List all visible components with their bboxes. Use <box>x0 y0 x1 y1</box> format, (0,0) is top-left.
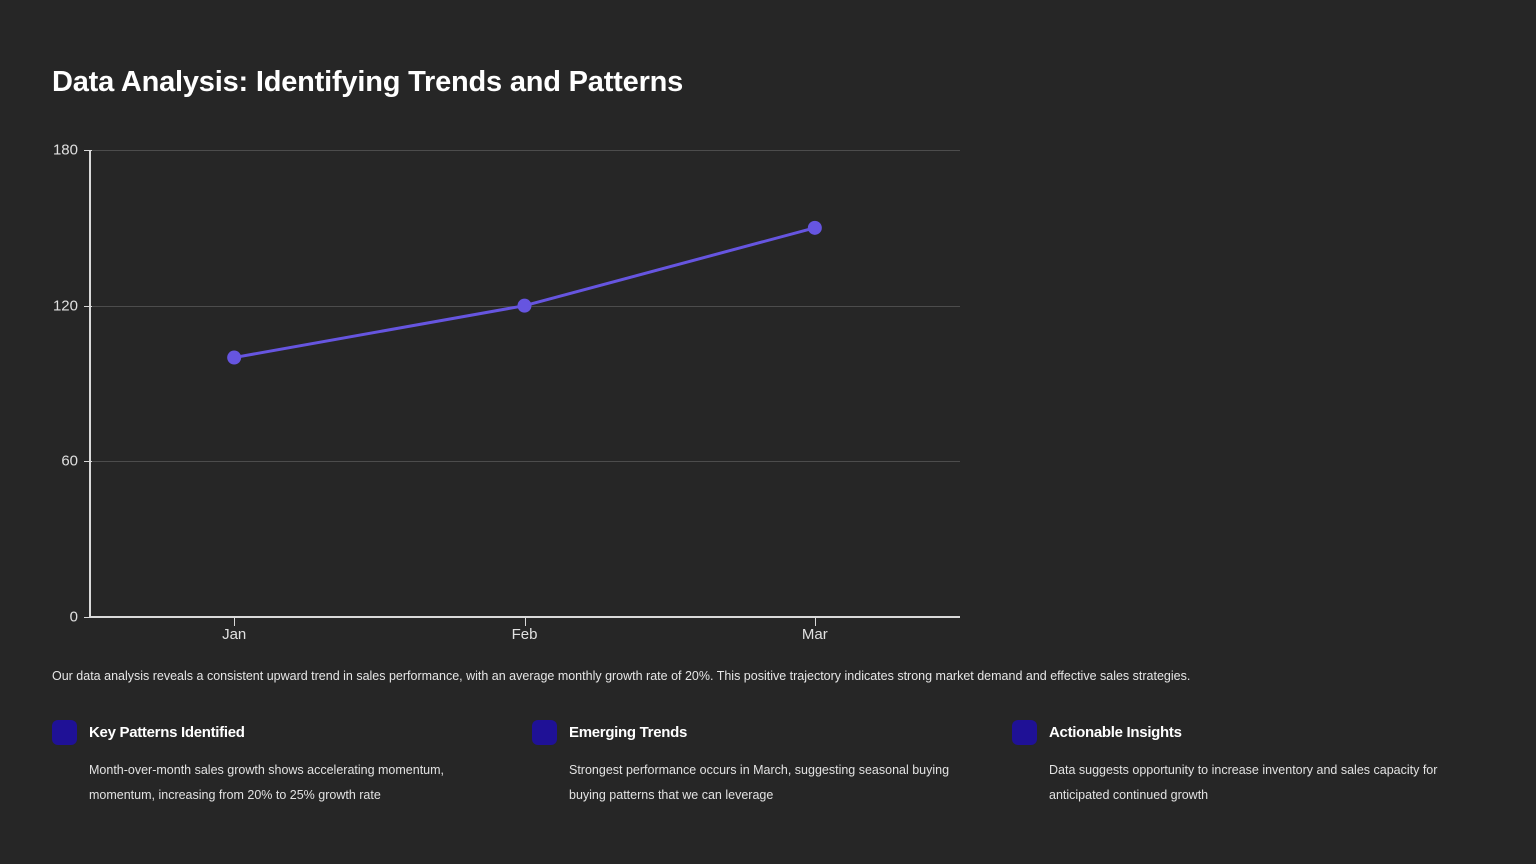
card-title: Actionable Insights <box>1049 724 1182 741</box>
card-header: Actionable Insights <box>1012 718 1462 746</box>
insight-card-emerging-trends: Emerging Trends Strongest performance oc… <box>532 718 1012 808</box>
insight-card-key-patterns: Key Patterns Identified Month-over-month… <box>52 718 532 808</box>
card-header: Emerging Trends <box>532 718 982 746</box>
series-line-sales <box>234 228 815 358</box>
card-header: Key Patterns Identified <box>52 718 502 746</box>
insight-cards: Key Patterns Identified Month-over-month… <box>52 718 1492 808</box>
summary-caption: Our data analysis reveals a consistent u… <box>52 668 1252 685</box>
card-title: Key Patterns Identified <box>89 724 245 741</box>
card-body-text: Month-over-month sales growth shows acce… <box>89 758 489 808</box>
card-title: Emerging Trends <box>569 724 687 741</box>
data-point-feb <box>518 299 532 313</box>
chart-series-layer <box>0 0 1536 660</box>
insight-card-actionable-insights: Actionable Insights Data suggests opport… <box>1012 718 1492 808</box>
color-swatch-icon <box>532 720 557 745</box>
card-body-text: Data suggests opportunity to increase in… <box>1049 758 1449 808</box>
data-point-mar <box>808 221 822 235</box>
card-body-text: Strongest performance occurs in March, s… <box>569 758 969 808</box>
color-swatch-icon <box>52 720 77 745</box>
data-point-jan <box>227 351 241 365</box>
line-chart: 060120180 JanFebMar <box>0 0 1536 660</box>
color-swatch-icon <box>1012 720 1037 745</box>
